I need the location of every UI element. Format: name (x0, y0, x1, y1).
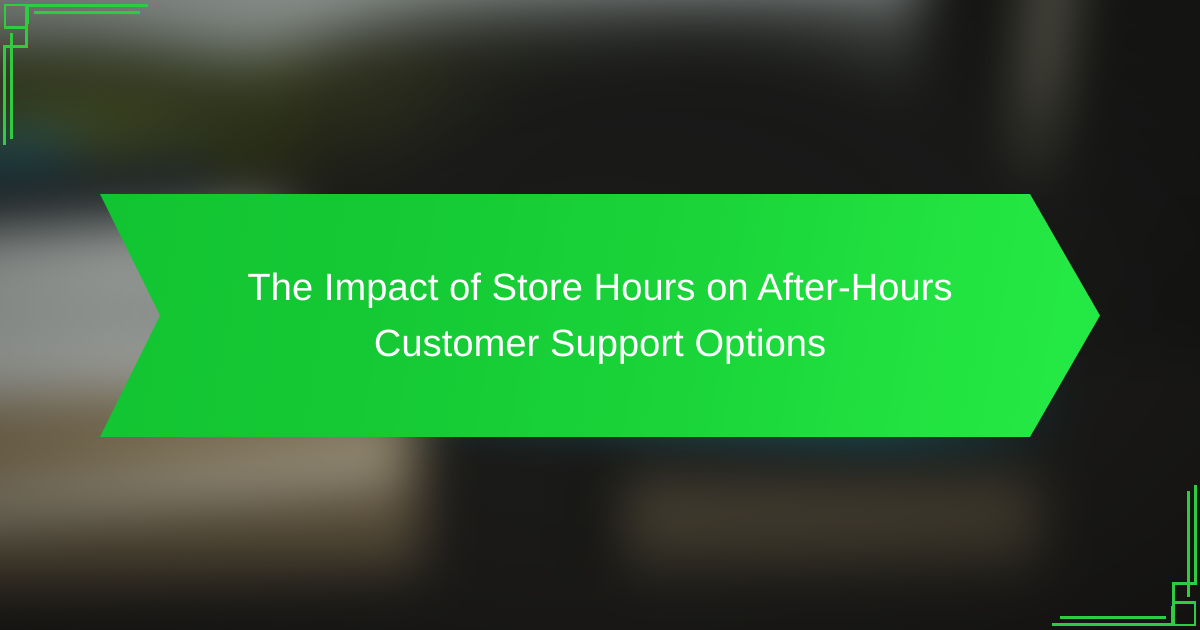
page-title: The Impact of Store Hours on After-Hours… (210, 260, 990, 372)
title-banner: The Impact of Store Hours on After-Hours… (100, 194, 1100, 437)
banner-canvas: The Impact of Store Hours on After-Hours… (0, 0, 1200, 630)
